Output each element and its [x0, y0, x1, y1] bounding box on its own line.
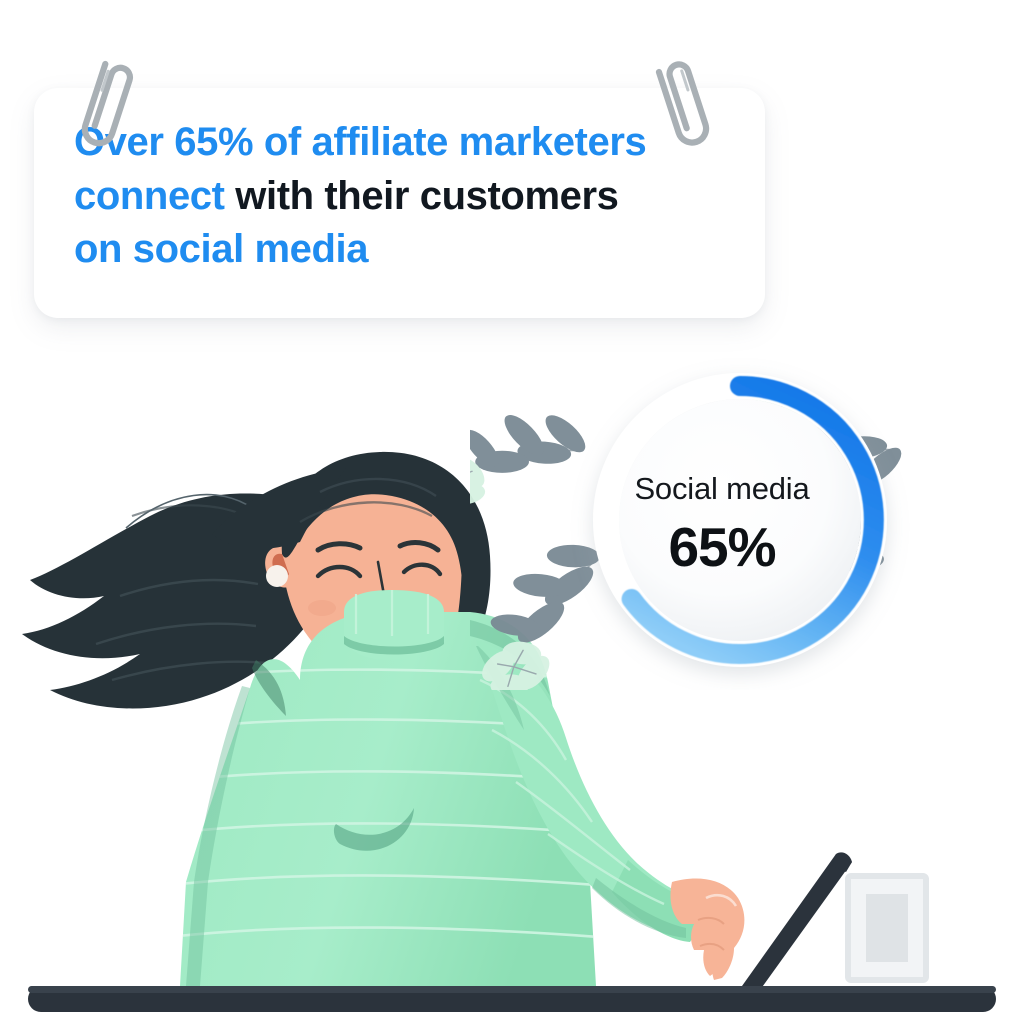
headline-segment-3: on social media: [74, 227, 368, 271]
headline-segment-2: with their customers: [235, 174, 618, 218]
infographic-canvas: Over 65% of affiliate marketersconnect w…: [0, 0, 1024, 1024]
gauge-chart: [470, 330, 1010, 690]
desk-highlight: [28, 986, 996, 993]
headline-segment-1: connect: [74, 174, 235, 218]
gauge-inner-disc: [619, 399, 861, 641]
headline-segment-0: Over 65% of affiliate marketers: [74, 120, 646, 164]
page-title: Over 65% of affiliate marketersconnect w…: [74, 116, 744, 277]
photo-frame-icon: [848, 876, 926, 982]
headline-card: Over 65% of affiliate marketersconnect w…: [34, 88, 765, 318]
